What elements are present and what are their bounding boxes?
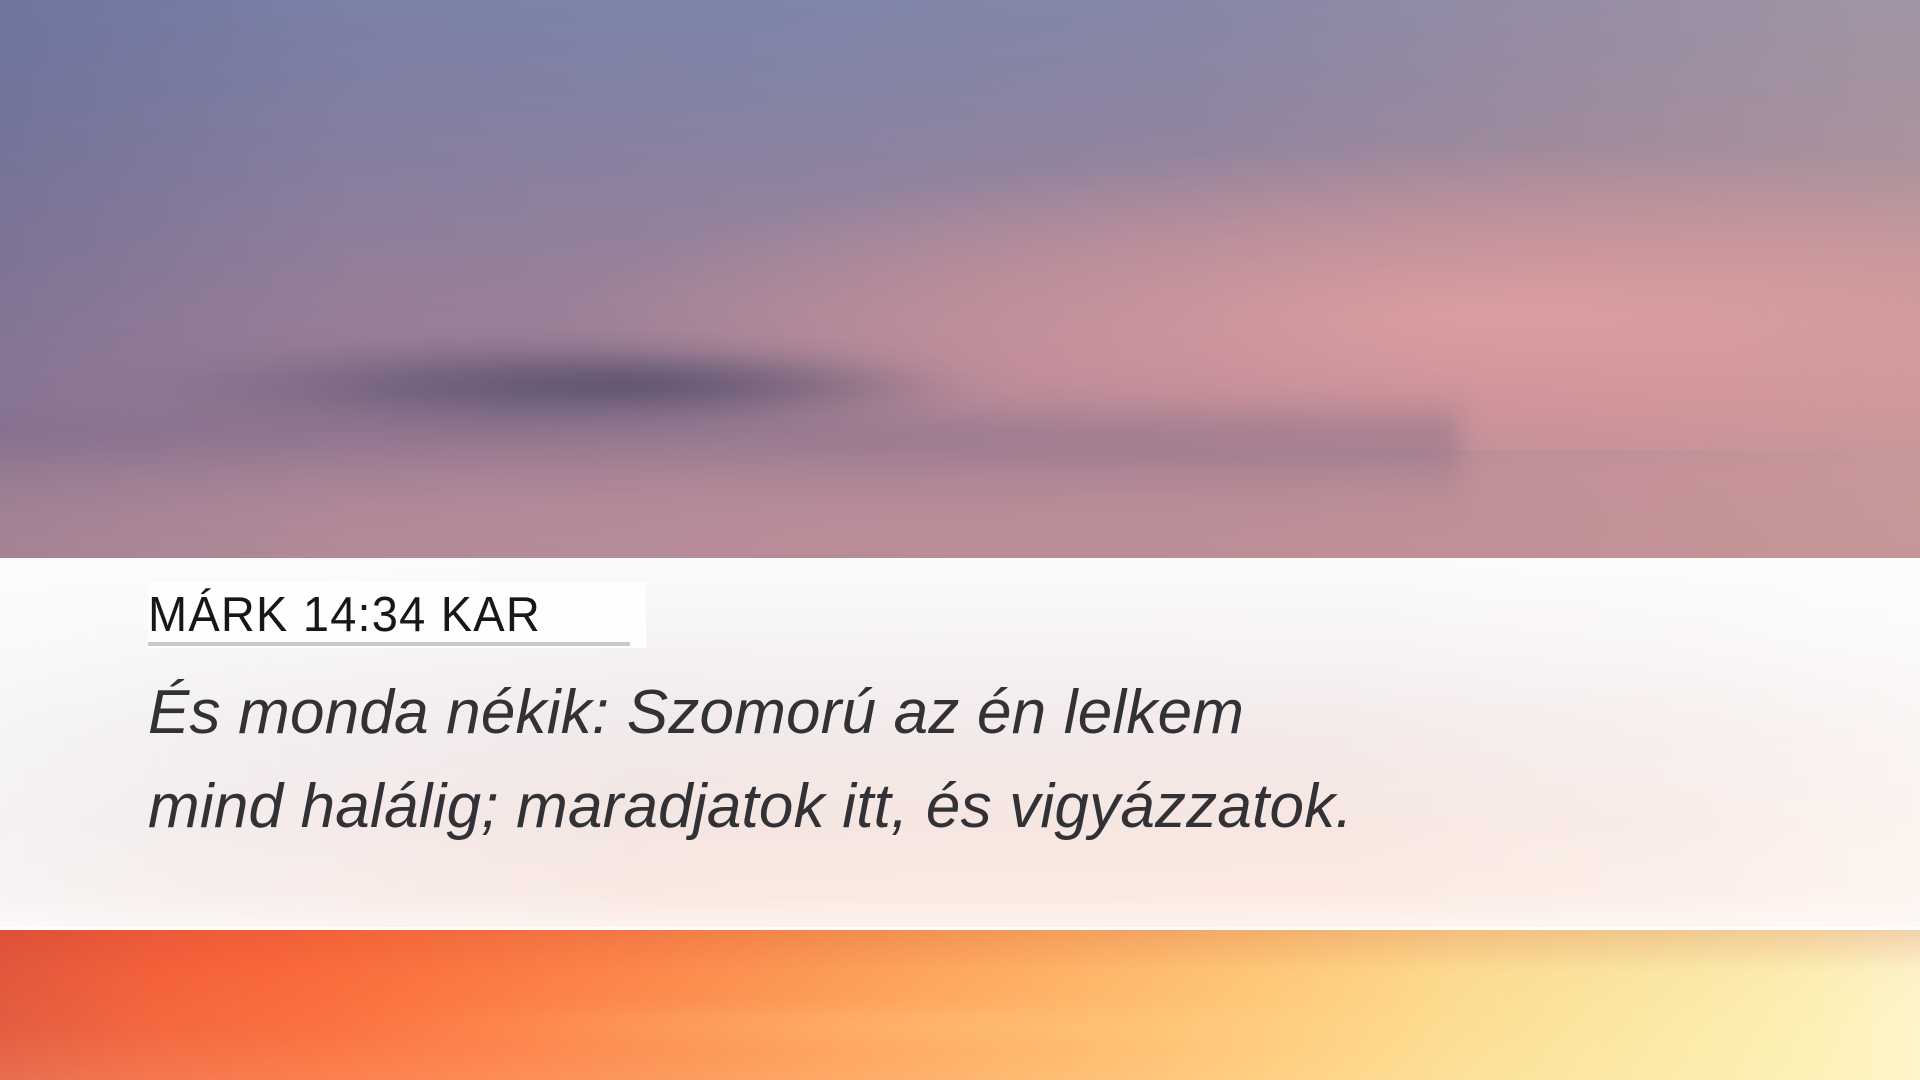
scripture-reference-highlight-box: MÁRK 14:34 KAR [148, 582, 646, 648]
sunset-light-streak [120, 995, 1620, 1055]
verse-text-line-2: mind halálig; maradjatok itt, és vigyázz… [148, 760, 1808, 854]
verse-image-canvas: MÁRK 14:34 KAR És monda nékik: Szomorú a… [0, 0, 1920, 1080]
scripture-reference-underline [148, 642, 630, 646]
verse-content-area: MÁRK 14:34 KAR És monda nékik: Szomorú a… [0, 558, 1920, 930]
verse-text-block: És monda nékik: Szomorú az én lelkem min… [148, 666, 1808, 854]
scripture-reference: MÁRK 14:34 KAR [148, 582, 646, 648]
verse-text-line-1: És monda nékik: Szomorú az én lelkem [148, 666, 1808, 760]
scripture-reference-label: MÁRK 14:34 KAR [148, 585, 630, 643]
